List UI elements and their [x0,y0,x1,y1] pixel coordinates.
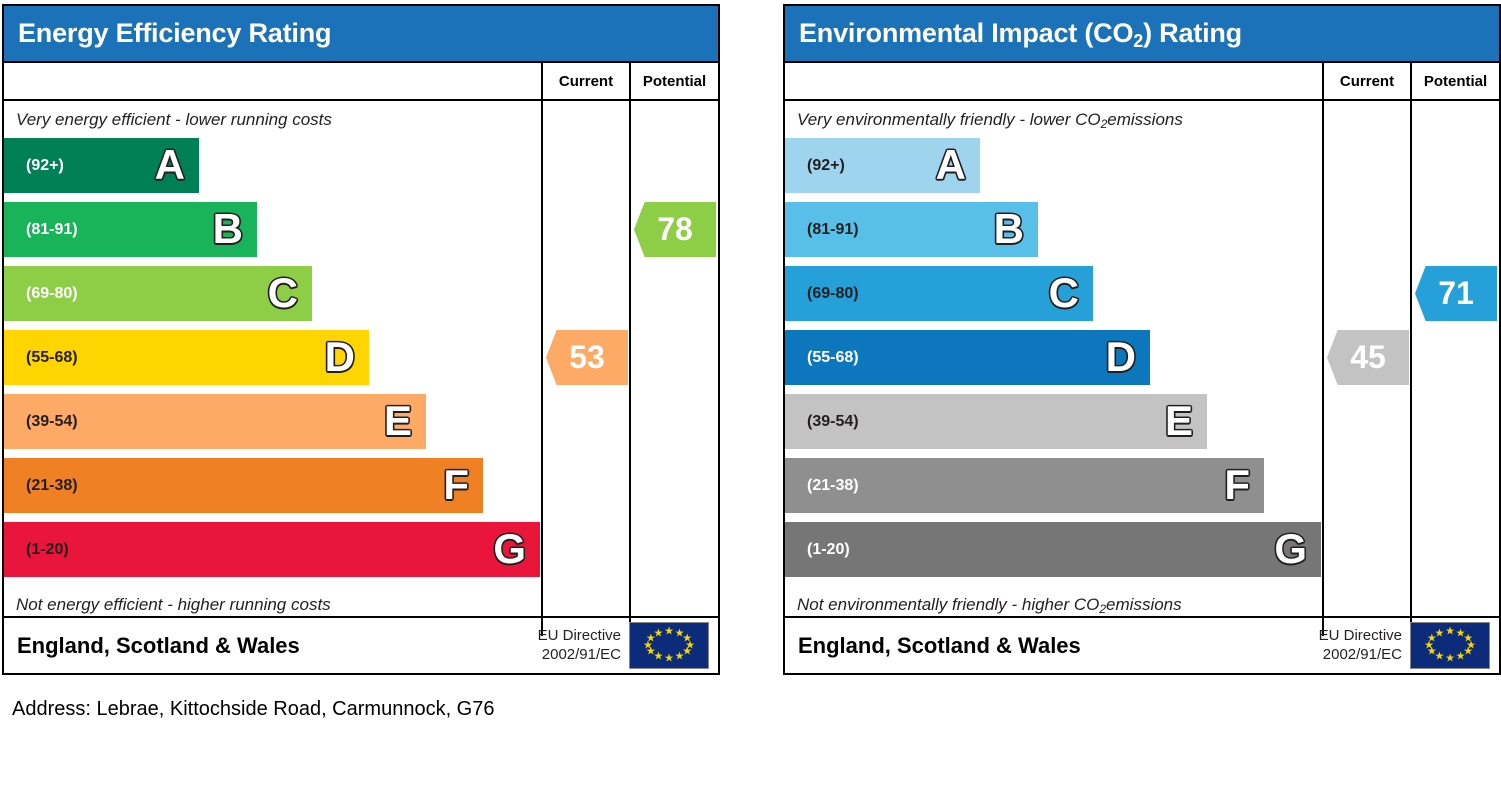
environmental-band-letter-b: B [994,208,1024,250]
energy-band-c: (69-80)C [4,266,312,321]
environmental-chart-title-text: Environmental Impact (CO2) Rating [799,18,1242,49]
energy-column-header-row: Current Potential [4,63,718,101]
environmental-band-letter-a: A [936,144,966,186]
energy-divider-potential [629,101,631,636]
environmental-potential-rating-badge: 71 [1415,266,1497,321]
energy-current-rating-badge: 53 [546,330,628,385]
environmental-band-a: (92+)A [785,138,980,193]
environmental-band-column: Very environmentally friendly - lower CO… [785,101,1322,636]
environmental-band-c: (69-80)C [785,266,1093,321]
energy-band-f: (21-38)F [4,458,483,513]
energy-column-header-current: Current [541,63,629,99]
environmental-band-range-c: (69-80) [807,285,859,303]
energy-band-letter-g: G [493,528,526,570]
eu-star-icon: ★ [675,652,685,663]
environmental-band-letter-c: C [1049,272,1079,314]
environmental-band-letter-e: E [1165,400,1193,442]
environmental-impact-rating-chart: Environmental Impact (CO2) Rating Curren… [783,4,1501,675]
environmental-column-header-spacer [785,63,1322,99]
energy-footer: England, Scotland & Wales EU Directive 2… [4,616,718,673]
environmental-current-rating-value: 45 [1350,339,1386,376]
environmental-band-d: (55-68)D [785,330,1150,385]
energy-band-b: (81-91)B [4,202,257,257]
energy-current-rating-value: 53 [569,339,605,376]
eu-star-icon: ★ [1456,652,1466,663]
energy-footer-directive-line1: EU Directive [538,627,621,646]
energy-band-letter-a: A [155,144,185,186]
energy-efficiency-rating-chart: Energy Efficiency Rating Current Potenti… [2,4,720,675]
eu-star-icon: ★ [1445,627,1455,638]
energy-chart-title: Energy Efficiency Rating [4,6,718,63]
environmental-band-range-g: (1-20) [807,541,850,559]
eu-star-icon: ★ [664,654,674,665]
environmental-footer-region: England, Scotland & Wales [798,633,1319,659]
eu-star-icon: ★ [664,627,674,638]
environmental-column-header-row: Current Potential [785,63,1499,101]
environmental-column-header-current: Current [1322,63,1410,99]
environmental-band-range-b: (81-91) [807,221,859,239]
energy-footer-region: England, Scotland & Wales [17,633,538,659]
energy-potential-rating-value: 78 [657,211,693,248]
energy-band-range-a: (92+) [26,157,64,175]
energy-potential-rating-badge: 78 [634,202,716,257]
energy-band-stack: (92+)A(81-91)B(69-80)C(55-68)D(39-54)E(2… [4,138,541,577]
environmental-top-caption: Very environmentally friendly - lower CO… [785,101,1322,138]
environmental-band-range-d: (55-68) [807,349,859,367]
environmental-band-g: (1-20)G [785,522,1321,577]
eu-flag-icon: ★★★★★★★★★★★★ [629,622,709,669]
energy-chart-title-text: Energy Efficiency Rating [18,18,331,49]
energy-band-range-b: (81-91) [26,221,78,239]
energy-band-g: (1-20)G [4,522,540,577]
eu-star-icon: ★ [1435,628,1445,639]
energy-chart-body: Very energy efficient - lower running co… [4,101,718,636]
energy-band-e: (39-54)E [4,394,426,449]
environmental-footer-directive-line2: 2002/91/EC [1319,646,1402,665]
environmental-band-letter-f: F [1224,464,1250,506]
environmental-column-header-potential: Potential [1410,63,1499,99]
energy-band-column: Very energy efficient - lower running co… [4,101,541,636]
epc-page: Energy Efficiency Rating Current Potenti… [0,0,1501,805]
eu-star-icon: ★ [1445,654,1455,665]
energy-top-caption: Very energy efficient - lower running co… [4,101,541,138]
environmental-band-range-e: (39-54) [807,413,859,431]
environmental-potential-rating-value: 71 [1438,275,1474,312]
eu-star-icon: ★ [654,628,664,639]
energy-band-range-c: (69-80) [26,285,78,303]
energy-band-letter-c: C [268,272,298,314]
environmental-divider-current [1322,101,1324,636]
environmental-band-e: (39-54)E [785,394,1207,449]
energy-band-letter-f: F [443,464,469,506]
energy-band-range-e: (39-54) [26,413,78,431]
energy-band-range-d: (55-68) [26,349,78,367]
environmental-footer-directive: EU Directive 2002/91/EC [1319,627,1402,665]
environmental-chart-title: Environmental Impact (CO2) Rating [785,6,1499,63]
environmental-band-letter-d: D [1106,336,1136,378]
environmental-band-range-f: (21-38) [807,477,859,495]
environmental-band-letter-g: G [1274,528,1307,570]
environmental-divider-potential [1410,101,1412,636]
energy-footer-directive: EU Directive 2002/91/EC [538,627,621,665]
energy-divider-current [541,101,543,636]
environmental-footer-directive-line1: EU Directive [1319,627,1402,646]
energy-footer-directive-line2: 2002/91/EC [538,646,621,665]
environmental-band-f: (21-38)F [785,458,1264,513]
energy-band-range-f: (21-38) [26,477,78,495]
energy-column-header-potential: Potential [629,63,718,99]
environmental-band-range-a: (92+) [807,157,845,175]
energy-band-a: (92+)A [4,138,199,193]
energy-band-d: (55-68)D [4,330,369,385]
property-address: Address: Lebrae, Kittochside Road, Carmu… [12,698,494,721]
energy-column-header-spacer [4,63,541,99]
energy-band-letter-d: D [325,336,355,378]
environmental-footer: England, Scotland & Wales EU Directive 2… [785,616,1499,673]
energy-band-range-g: (1-20) [26,541,69,559]
energy-band-letter-b: B [213,208,243,250]
eu-flag-icon: ★★★★★★★★★★★★ [1410,622,1490,669]
environmental-current-rating-badge: 45 [1327,330,1409,385]
energy-band-letter-e: E [384,400,412,442]
environmental-band-stack: (92+)A(81-91)B(69-80)C(55-68)D(39-54)E(2… [785,138,1322,577]
environmental-chart-body: Very environmentally friendly - lower CO… [785,101,1499,636]
environmental-band-b: (81-91)B [785,202,1038,257]
